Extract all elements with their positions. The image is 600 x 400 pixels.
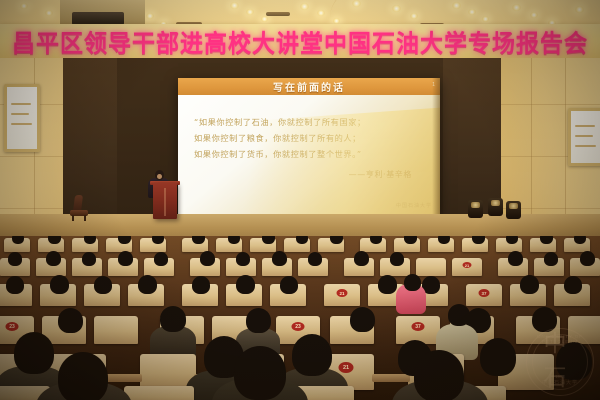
slide-corner-logo: 中国石油大学 bbox=[396, 202, 432, 209]
seat-number: 23 bbox=[292, 322, 305, 331]
seat-number: 21 bbox=[339, 362, 354, 373]
seat-number: 37 bbox=[479, 289, 490, 297]
seat-number: 21 bbox=[463, 262, 472, 268]
ceiling-light bbox=[246, 9, 254, 15]
ceiling-light bbox=[45, 10, 53, 16]
slide-surface: 写在前面的话 1 “如果你控制了石油，你就控制了所有国家； 如果你控制了粮食，你… bbox=[178, 78, 440, 214]
ceiling-light bbox=[392, 5, 401, 12]
ceiling-light bbox=[482, 16, 489, 22]
quote-line: “如果你控制了石油，你就控制了所有国家； bbox=[194, 114, 426, 130]
ceiling-vent bbox=[266, 12, 290, 16]
quote-line: 如果你控制了粮食，你就控制了所有的人； bbox=[194, 130, 426, 146]
slide-body: “如果你控制了石油，你就控制了所有国家； 如果你控制了粮食，你就控制了所有的人；… bbox=[194, 114, 426, 180]
ceiling-light bbox=[512, 4, 521, 11]
stage-floor-light bbox=[468, 200, 483, 218]
quote-attribution: ——亨利·基辛格 bbox=[194, 169, 426, 180]
stage-chair bbox=[70, 195, 88, 221]
event-banner: 昌平区领导干部进高校大讲堂中国石油大学专场报告会 bbox=[0, 24, 600, 58]
ceiling-light bbox=[261, 16, 268, 22]
slide-title-bar: 写在前面的话 bbox=[178, 78, 440, 95]
seat-number: 21 bbox=[337, 289, 348, 297]
auditorium-lecture-photo: 昌平区领导干部进高校大讲堂中国石油大学专场报告会 写在前面的话 bbox=[0, 0, 600, 400]
audience-seating: 21 bbox=[0, 236, 600, 400]
projection-screen: 写在前面的话 1 “如果你控制了石油，你就控制了所有国家； 如果你控制了粮食，你… bbox=[178, 78, 440, 214]
screen-right-edge bbox=[432, 78, 440, 214]
speaker-face bbox=[157, 174, 162, 179]
slide-title: 写在前面的话 bbox=[273, 79, 345, 94]
ceiling-light bbox=[317, 10, 325, 16]
ceiling-light bbox=[410, 13, 418, 19]
stage-floor-light bbox=[488, 198, 503, 216]
ceiling-light bbox=[20, 3, 28, 9]
ceiling-light bbox=[575, 6, 584, 13]
ceiling-light bbox=[452, 2, 461, 9]
quote-line: 如果你控制了货币，你就控制了整个世界。” bbox=[194, 146, 426, 162]
ceiling-light bbox=[300, 3, 309, 10]
ceiling-light bbox=[468, 9, 476, 15]
seat-number: 37 bbox=[412, 322, 425, 331]
ceiling-light bbox=[230, 2, 239, 9]
ceiling-light bbox=[352, 0, 361, 7]
podium-trim bbox=[164, 188, 166, 216]
seat-number: 23 bbox=[6, 322, 19, 331]
ceiling-light bbox=[530, 12, 538, 18]
stage-floor-light bbox=[506, 201, 521, 219]
left-side-display bbox=[4, 84, 40, 152]
ceiling-light bbox=[146, 13, 154, 19]
banner-text: 昌平区领导干部进高校大讲堂中国石油大学专场报告会 bbox=[12, 24, 588, 58]
right-side-display bbox=[568, 108, 600, 166]
